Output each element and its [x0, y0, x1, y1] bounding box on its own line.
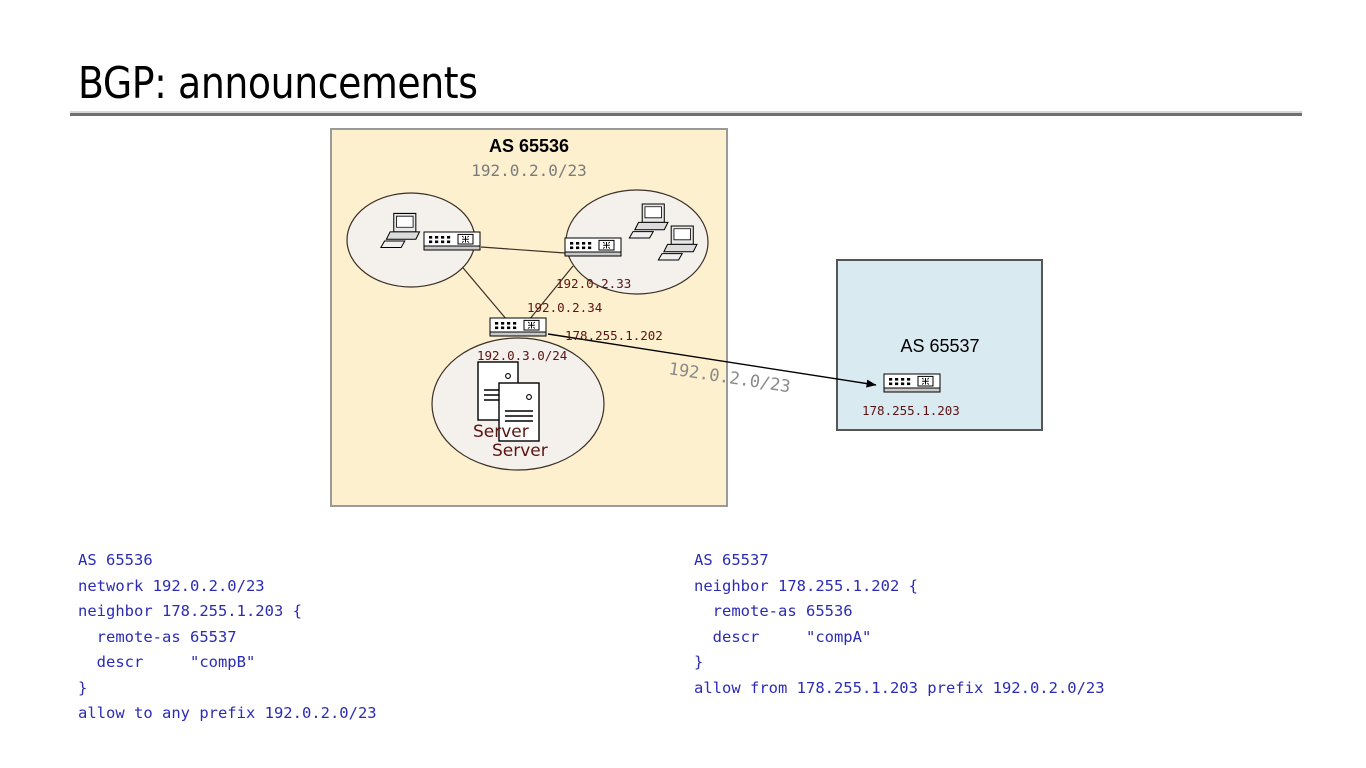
label-server-b: Server: [492, 441, 548, 461]
label-server-subnet: 192.0.3.0/24: [477, 348, 567, 363]
as-65536-prefix: 192.0.2.0/23: [471, 161, 587, 180]
bgp-config-as-65537: AS 65537 neighbor 178.255.1.202 { remote…: [694, 548, 1105, 701]
label-as-65537-switch-ip: 178.255.1.203: [862, 403, 960, 418]
as-65536-title: AS 65536: [489, 136, 569, 156]
label-switch-center-ext-ip: 178.255.1.202: [565, 328, 663, 343]
label-switch-right-ip: 192.0.2.33: [556, 276, 631, 291]
network-diagram: AS 65536 192.0.2.0/23 AS 65537 192.0.2.3…: [0, 0, 1366, 540]
switch-center: [490, 318, 546, 336]
bgp-config-as-65536: AS 65536 network 192.0.2.0/23 neighbor 1…: [78, 548, 377, 727]
label-switch-center-ip: 192.0.2.34: [527, 300, 602, 315]
label-server-a: Server: [473, 422, 529, 442]
switch-left: [424, 232, 480, 250]
switch-as-65537: [884, 374, 940, 392]
switch-right: [565, 238, 621, 256]
as-65537-title: AS 65537: [900, 336, 979, 356]
